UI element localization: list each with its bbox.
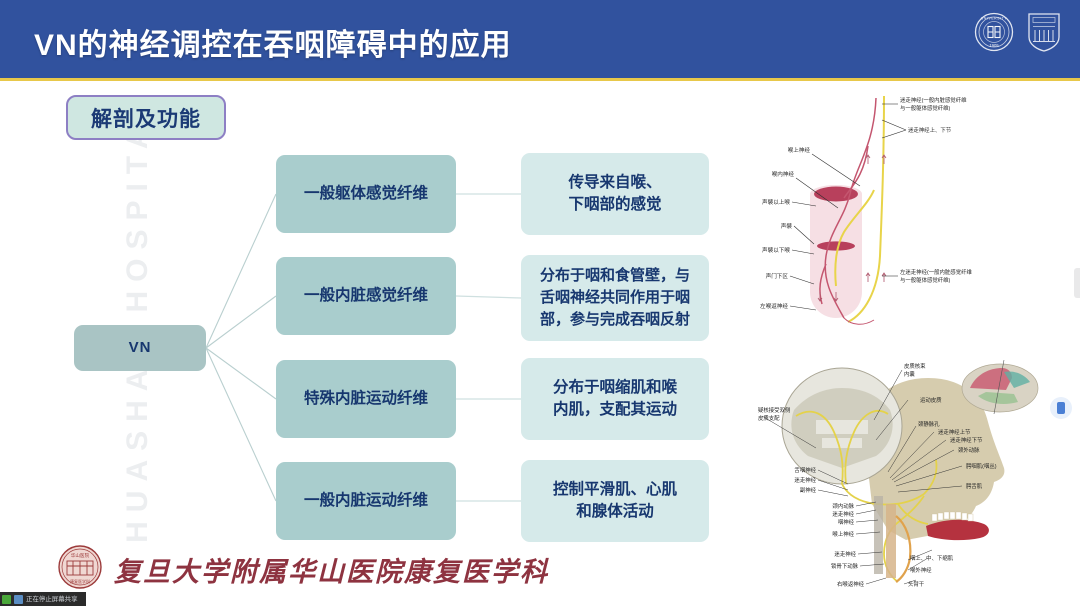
svg-text:康复医学科: 康复医学科 (70, 578, 90, 584)
svg-text:迷走神经: 迷走神经 (794, 476, 816, 484)
header-logos: 1905 UNIVERSITY (974, 11, 1062, 58)
share-screen-icon[interactable] (2, 595, 11, 604)
svg-text:华山医院: 华山医院 (71, 552, 90, 559)
svg-text:UNIVERSITY: UNIVERSITY (981, 16, 1007, 20)
fudan-university-seal-icon: 1905 UNIVERSITY (974, 12, 1014, 57)
section-chip-label: 解剖及功能 (91, 103, 201, 133)
header-accent-rule (0, 78, 1080, 81)
description-line: 分布于咽缩肌和喉 (553, 377, 677, 399)
svg-text:迷走神经上、下节: 迷走神经上、下节 (908, 126, 952, 134)
svg-text:喉上神经: 喉上神经 (788, 146, 811, 154)
description-line: 控制平滑肌、心肌 (553, 479, 677, 501)
svg-text:迷走神经: 迷走神经 (834, 550, 856, 558)
svg-text:副神经: 副神经 (800, 486, 817, 494)
description-line: 分布于咽和食管壁，与 (540, 265, 690, 287)
node-description-3[interactable]: 分布于咽缩肌和喉 内肌，支配其运动 (521, 358, 709, 440)
svg-text:颈外动脉: 颈外动脉 (958, 446, 980, 454)
svg-text:与一般躯体感觉纤维): 与一般躯体感觉纤维) (900, 276, 951, 284)
svg-text:与一般躯体感觉纤维): 与一般躯体感觉纤维) (900, 104, 951, 112)
screen-share-status-text: 正在停止屏幕共享 (26, 594, 78, 603)
svg-text:迷走神经下节: 迷走神经下节 (950, 436, 983, 444)
svg-text:咽上、中、下缩肌: 咽上、中、下缩肌 (910, 554, 954, 562)
svg-text:声襞以下喉: 声襞以下喉 (762, 246, 790, 254)
footer-branding: 华山医院 康复医学科 复旦大学附属华山医院康复医学科 (58, 545, 549, 594)
node-branch-3[interactable]: 特殊内脏运动纤维 (276, 360, 456, 438)
svg-text:皮质支配: 皮质支配 (758, 414, 780, 422)
node-description-2[interactable]: 分布于咽和食管壁，与 舌咽神经共同作用于咽 部，参与完成吞咽反射 (521, 255, 709, 341)
svg-text:头臂干: 头臂干 (908, 580, 925, 588)
svg-text:疑核接受双侧: 疑核接受双侧 (758, 406, 790, 414)
svg-text:喉上神经: 喉上神经 (832, 530, 854, 538)
node-vn-root[interactable]: VN (74, 325, 206, 371)
description-line: 部，参与完成吞咽反射 (540, 309, 690, 331)
footer-department-name: 复旦大学附属华山医院康复医学科 (114, 550, 549, 589)
svg-text:声门下区: 声门下区 (766, 272, 789, 280)
svg-text:咽神经: 咽神经 (838, 518, 855, 526)
svg-text:声襞: 声襞 (781, 222, 793, 230)
node-branch-2[interactable]: 一般内脏感觉纤维 (276, 257, 456, 335)
svg-text:颈静脉孔: 颈静脉孔 (918, 420, 940, 428)
svg-text:右喉返神经: 右喉返神经 (837, 580, 865, 588)
svg-text:左喉返神经: 左喉返神经 (760, 302, 788, 310)
svg-text:内囊: 内囊 (904, 370, 915, 378)
svg-text:腭舌肌: 腭舌肌 (966, 482, 983, 490)
description-line: 内肌，支配其运动 (553, 399, 677, 421)
svg-text:喉外神经: 喉外神经 (910, 566, 932, 574)
node-branch-4[interactable]: 一般内脏运动纤维 (276, 462, 456, 540)
svg-text:运动皮质: 运动皮质 (920, 396, 942, 404)
node-description-1[interactable]: 传导来自喉、 下咽部的感觉 (521, 153, 709, 235)
larynx-vagus-nerve-diagram: 迷走神经(一般内脏感觉纤维 与一般躯体感觉纤维) 迷走神经上、下节 左迷走神经(… (756, 86, 1080, 344)
description-line: 传导来自喉、 (568, 172, 661, 194)
svg-text:迷走神经(一般内脏感觉纤维: 迷走神经(一般内脏感觉纤维 (900, 96, 967, 104)
description-line: 和腺体活动 (553, 501, 677, 523)
page-indicator-icon[interactable] (1050, 397, 1072, 419)
svg-text:颈内动脉: 颈内动脉 (832, 502, 854, 510)
svg-text:迷走神经上节: 迷走神经上节 (938, 428, 971, 436)
huashan-hospital-red-seal-icon: 华山医院 康复医学科 (58, 545, 102, 594)
description-line: 下咽部的感觉 (568, 194, 661, 216)
scroll-edge-tab[interactable] (1074, 268, 1080, 298)
slide-canvas: VN的神经调控在吞咽障碍中的应用 1905 UNIVERSITY (0, 0, 1080, 606)
screen-share-status-bar[interactable]: 正在停止屏幕共享 (0, 592, 86, 606)
svg-text:声襞以上喉: 声襞以上喉 (762, 198, 790, 206)
head-brain-nerve-pathway-diagram: 皮质核束 内囊 运动皮质 颈静脉孔 迷走神经上节 迷走神经下节 颈外动脉 腭咽肌… (756, 344, 1080, 589)
node-branch-1[interactable]: 一般躯体感觉纤维 (276, 155, 456, 233)
window-icon[interactable] (14, 595, 23, 604)
page-title: VN的神经调控在吞咽障碍中的应用 (34, 20, 512, 64)
svg-text:左迷走神经(一般内脏感觉纤维: 左迷走神经(一般内脏感觉纤维 (900, 268, 972, 276)
huashan-hospital-watermark: HUASHAN HOSPITAL (121, 91, 155, 543)
svg-text:1905: 1905 (989, 43, 999, 48)
svg-text:锁骨下动脉: 锁骨下动脉 (831, 562, 859, 570)
svg-text:舌咽神经: 舌咽神经 (794, 466, 816, 474)
huashan-hospital-crest-icon (1026, 11, 1062, 58)
section-chip-anatomy-function: 解剖及功能 (66, 95, 226, 140)
svg-text:喉内神经: 喉内神经 (772, 170, 795, 178)
svg-text:迷走神经: 迷走神经 (832, 510, 854, 518)
svg-text:皮质核束: 皮质核束 (904, 362, 926, 370)
node-description-4[interactable]: 控制平滑肌、心肌 和腺体活动 (521, 460, 709, 542)
svg-text:腭咽肌(咽丛): 腭咽肌(咽丛) (966, 462, 997, 470)
description-line: 舌咽神经共同作用于咽 (540, 287, 690, 309)
